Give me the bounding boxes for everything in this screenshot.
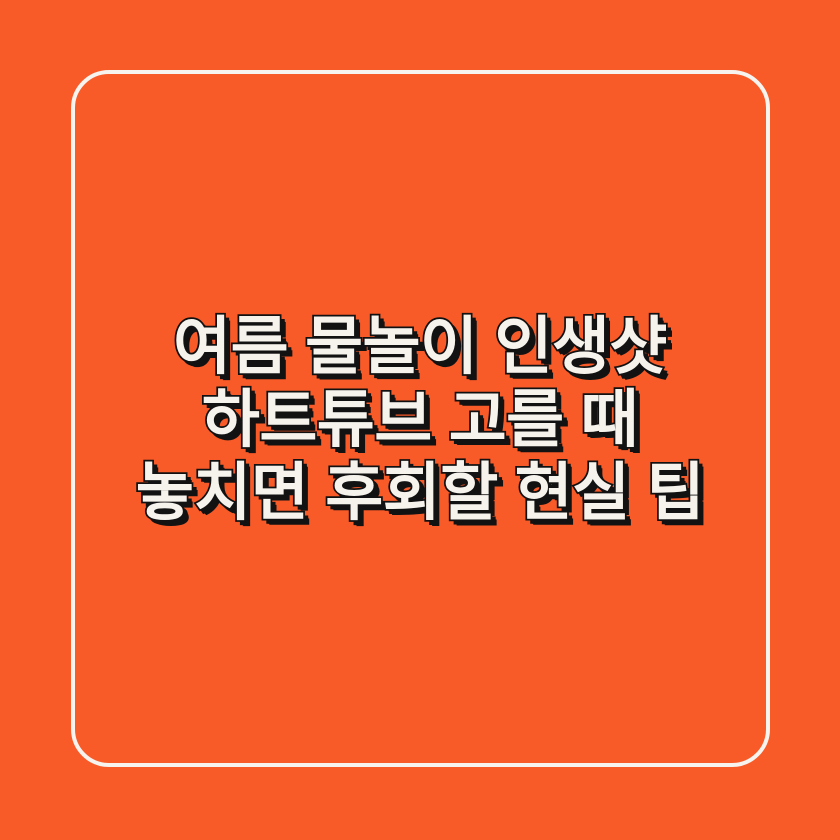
poster-canvas: 여름 물놀이 인생샷 하트튜브 고를 때 놓치면 후회할 현실 팁 [0, 0, 840, 840]
headline-block: 여름 물놀이 인생샷 하트튜브 고를 때 놓치면 후회할 현실 팁 [0, 0, 840, 840]
headline-line-1: 여름 물놀이 인생샷 [0, 311, 840, 384]
headline-line-2: 하트튜브 고를 때 [0, 384, 840, 457]
headline-line-3: 놓치면 후회할 현실 팁 [0, 457, 840, 530]
